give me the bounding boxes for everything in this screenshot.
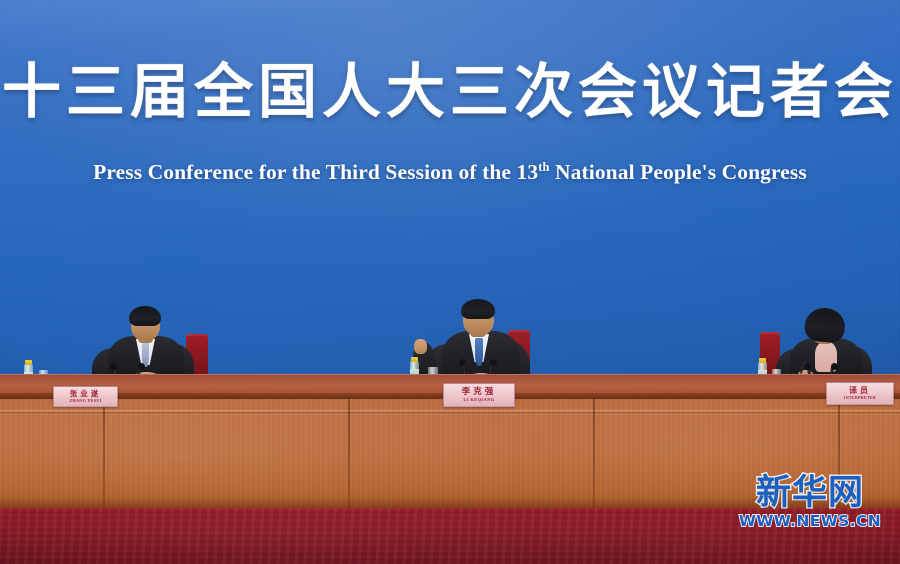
- bottle-cap-right: [759, 358, 766, 363]
- microphone-head-right-2: [831, 363, 838, 370]
- table-front-panel: [0, 399, 900, 511]
- microphone-head-center-1: [459, 359, 466, 366]
- title-en-after: National People's Congress: [550, 160, 807, 184]
- table-panel-seam-2: [348, 399, 350, 511]
- red-carpet: [0, 508, 900, 564]
- center-person-raised-hand: [414, 339, 427, 354]
- nameplate-name-chinese-center: 李克强: [462, 388, 497, 397]
- title-en-number: 13: [517, 160, 539, 184]
- bottle-cap-center: [411, 357, 418, 362]
- nameplate-name-english-left: ZHANG YESUI: [69, 399, 101, 403]
- center-person-tie: [475, 338, 483, 366]
- left-person-hair: [129, 306, 161, 326]
- microphone-head-left-2: [138, 363, 145, 370]
- table-wood-grain: [0, 399, 900, 511]
- nameplate-name-chinese-left: 张业遂: [70, 390, 102, 398]
- table-panel-seam-1: [103, 399, 105, 511]
- title-en-before: Press Conference for the Third Session o…: [93, 160, 516, 184]
- table-panel-seam-4: [838, 399, 840, 511]
- table-moulding: [0, 410, 900, 415]
- nameplate-li-keqiang: 李克强 LI KEQIANG: [443, 383, 515, 407]
- nameplate-name-chinese-right: 译员: [849, 387, 871, 395]
- table-panel-seam-3: [593, 399, 595, 511]
- nameplate-name-english-center: LI KEQIANG: [463, 398, 494, 402]
- nameplate-name-english-right: INTERPRETER: [844, 396, 876, 400]
- title-en-ordinal-suffix: th: [538, 160, 549, 174]
- carpet-texture: [0, 508, 900, 564]
- microphone-head-right-1: [804, 363, 811, 370]
- backdrop-title-english: Press Conference for the Third Session o…: [0, 160, 900, 185]
- microphone-head-left-1: [110, 363, 117, 370]
- bottle-cap-left: [25, 360, 32, 365]
- center-person-hair: [461, 299, 495, 319]
- nameplate-interpreter: 译员 INTERPRETER: [826, 382, 894, 405]
- nameplate-zhang-yesui: 张业遂 ZHANG YESUI: [53, 386, 118, 407]
- press-conference-photo: 十三届全国人大三次会议记者会 Press Conference for the …: [0, 0, 900, 564]
- microphone-head-center-2: [490, 359, 497, 366]
- backdrop-title-chinese: 十三届全国人大三次会议记者会: [0, 62, 900, 121]
